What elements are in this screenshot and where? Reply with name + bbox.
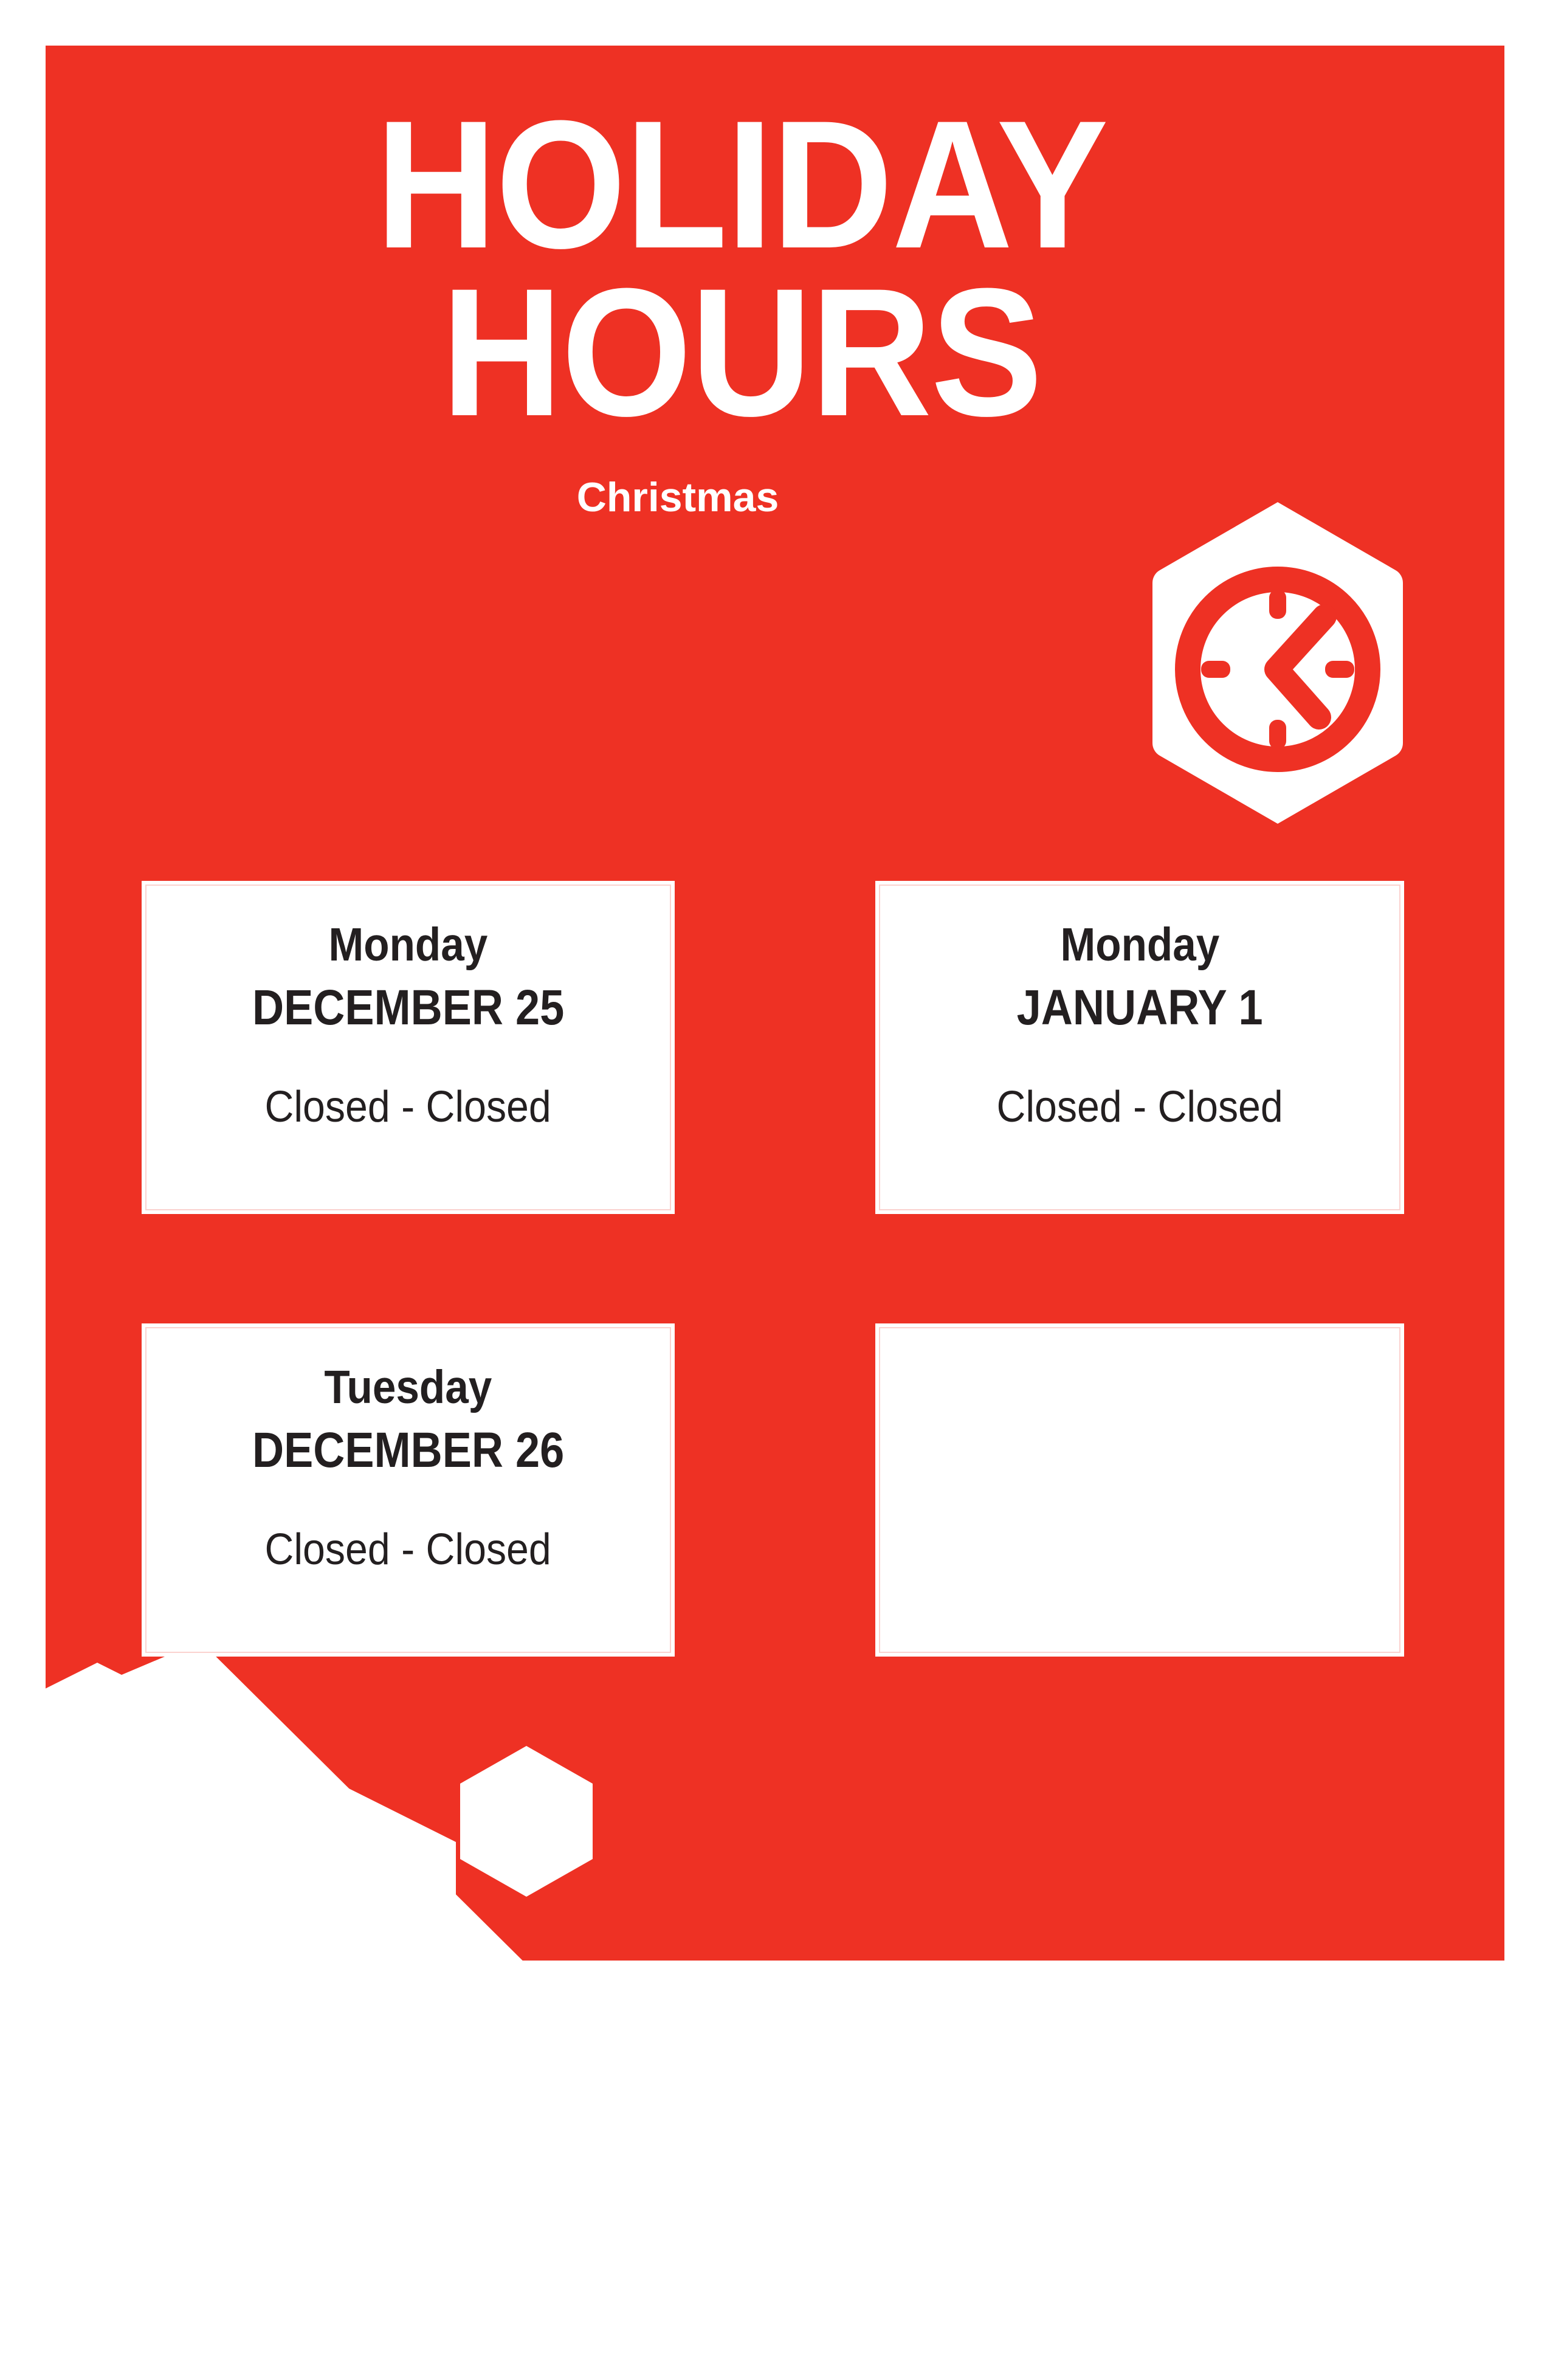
poster-canvas: HOLIDAYHOURS Christmas Monday DECEMBER 2… — [0, 0, 1550, 2006]
card-hours: Closed - Closed — [265, 1528, 551, 1571]
card-hours: Closed - Closed — [265, 1085, 551, 1129]
card-date: DECEMBER 25 — [252, 983, 564, 1033]
poster-header: HOLIDAYHOURS Christmas — [46, 100, 1504, 521]
schedule-card[interactable]: Tuesday DECEMBER 26 Closed - Closed — [142, 1323, 675, 1657]
schedule-card[interactable]: Monday DECEMBER 25 Closed - Closed — [142, 881, 675, 1214]
card-date: JANUARY 1 — [1016, 983, 1262, 1033]
card-day: Tuesday — [324, 1364, 492, 1411]
card-day: Monday — [329, 922, 488, 968]
card-hours: Closed - Closed — [996, 1085, 1283, 1129]
card-date: DECEMBER 26 — [252, 1426, 564, 1475]
page-title: HOLIDAYHOURS — [104, 100, 1446, 436]
schedule-card-grid: Monday DECEMBER 25 Closed - Closed Monda… — [142, 881, 1404, 1654]
clock-icon — [1148, 497, 1408, 829]
clock-badge — [1148, 497, 1408, 829]
schedule-card[interactable]: Monday JANUARY 1 Closed - Closed — [875, 881, 1404, 1214]
schedule-card-empty[interactable] — [875, 1323, 1404, 1657]
card-day: Monday — [1060, 922, 1219, 968]
title-line-2: HOURS — [104, 268, 1379, 436]
